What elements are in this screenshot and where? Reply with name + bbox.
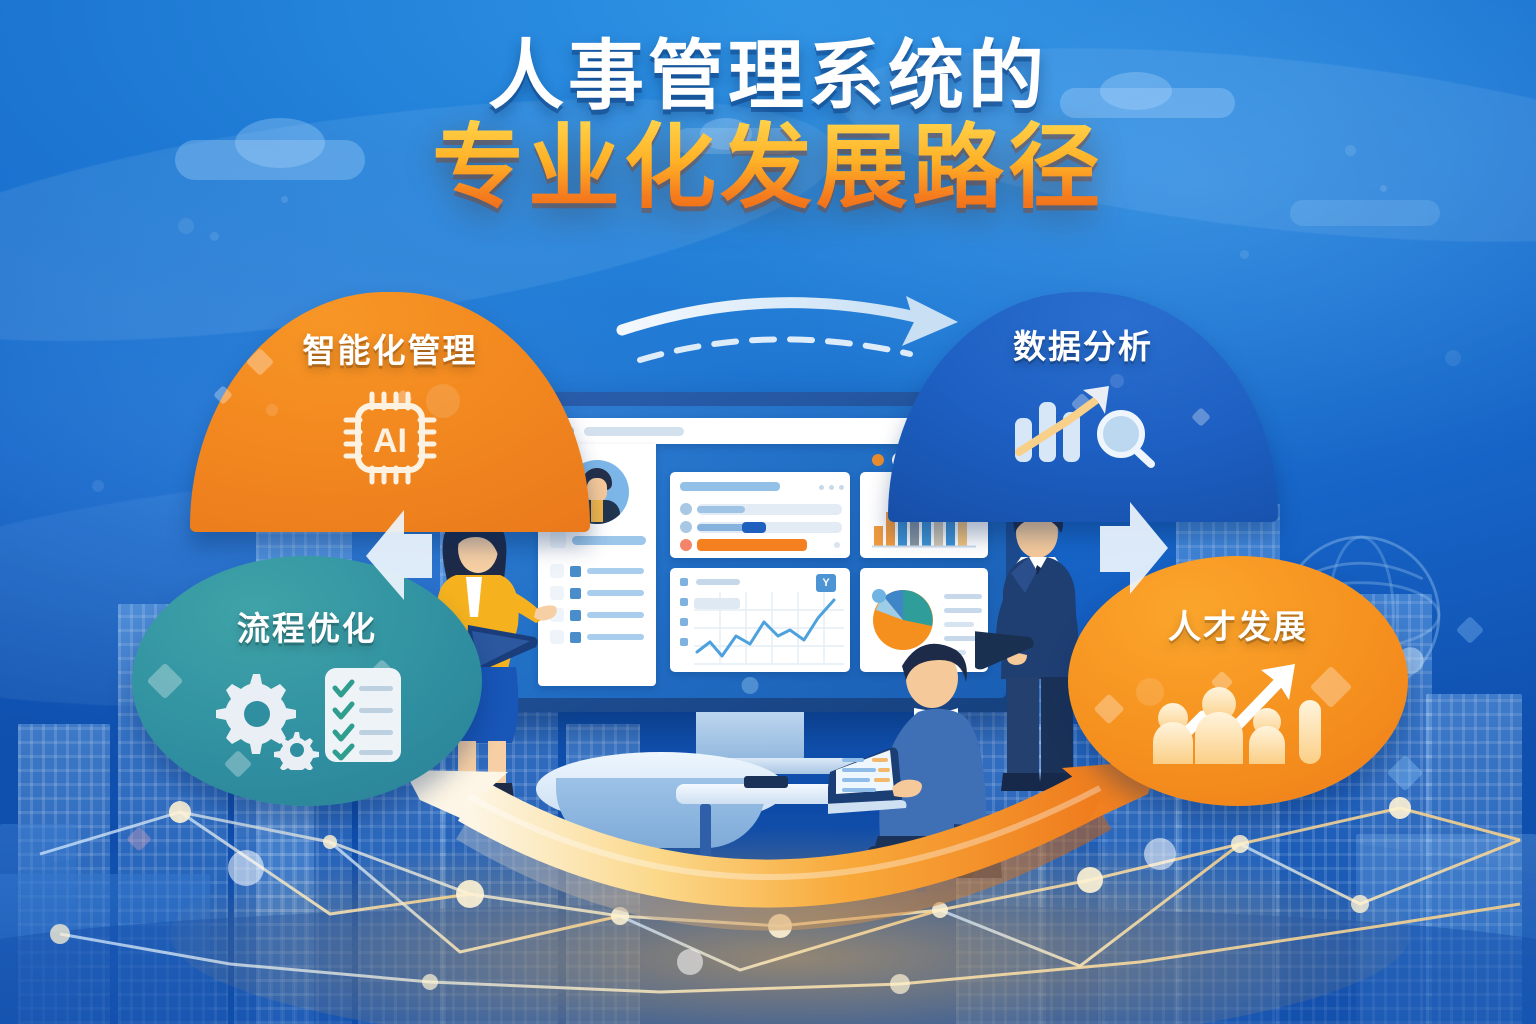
profile-detail-row[interactable]: [550, 608, 646, 622]
list-row[interactable]: [680, 502, 842, 516]
stage-process-optimization[interactable]: 流程优化: [132, 556, 482, 806]
legend-marker: [680, 618, 688, 626]
title-line-primary: 人事管理系统的: [0, 36, 1536, 118]
status-dot: [872, 454, 884, 466]
gears-checklist-icon: [207, 660, 407, 775]
menu-dot-icon[interactable]: [839, 485, 844, 490]
tablet-on-desk: [744, 776, 788, 788]
stage-label: 智能化管理: [303, 324, 478, 372]
window-address-bar[interactable]: [584, 427, 684, 436]
profile-detail-row[interactable]: [550, 564, 646, 578]
bokeh-dot: [210, 232, 219, 241]
bokeh-dot: [178, 218, 194, 234]
soft-circle-decoration: [266, 404, 278, 416]
list-row[interactable]: [680, 520, 842, 534]
task-list-card[interactable]: [670, 472, 850, 558]
stage-label: 人才发展: [1168, 600, 1308, 648]
stage-label: 流程优化: [237, 602, 377, 650]
list-row-highlight[interactable]: [680, 538, 842, 552]
profile-detail-row[interactable]: [550, 586, 646, 600]
stage-label: 数据分析: [1013, 320, 1153, 368]
menu-dot-icon[interactable]: [819, 485, 824, 490]
stage-data-analysis[interactable]: 数据分析: [888, 292, 1278, 522]
infographic-poster: 人事管理系统的 专业化发展路径: [0, 0, 1536, 1024]
trend-line-chart-card[interactable]: Y: [670, 568, 850, 672]
profile-name-bar: [572, 536, 646, 545]
profile-detail-row[interactable]: [550, 630, 646, 644]
pie-legend-row: [944, 622, 974, 627]
bar-chart-magnifier-icon: [1003, 376, 1163, 477]
list-card-title: [680, 482, 780, 491]
monitor-power-indicator: [742, 677, 759, 694]
people-growth-arrow-icon: [1143, 656, 1333, 769]
poster-title: 人事管理系统的 专业化发展路径: [0, 36, 1536, 217]
legend-marker: [680, 578, 688, 586]
bokeh-dot: [1240, 250, 1249, 259]
ai-chip-label: AI: [373, 422, 407, 460]
stage-talent-development[interactable]: 人才发展: [1068, 556, 1408, 806]
ai-chip-icon: AI: [338, 386, 442, 495]
menu-dot-icon[interactable]: [829, 485, 834, 490]
chart-badge: Y: [816, 574, 836, 592]
legend-marker: [680, 638, 688, 646]
work-desk-leg: [700, 804, 711, 892]
stage-intelligent-management[interactable]: 智能化管理 AI: [190, 292, 590, 532]
legend-marker: [680, 598, 688, 606]
chart-title-bar: [696, 579, 740, 585]
bokeh-dot: [1445, 350, 1461, 366]
trend-line-chart: [694, 592, 844, 666]
title-line-secondary: 专业化发展路径: [0, 120, 1536, 217]
man-at-laptop: [828, 628, 1028, 878]
